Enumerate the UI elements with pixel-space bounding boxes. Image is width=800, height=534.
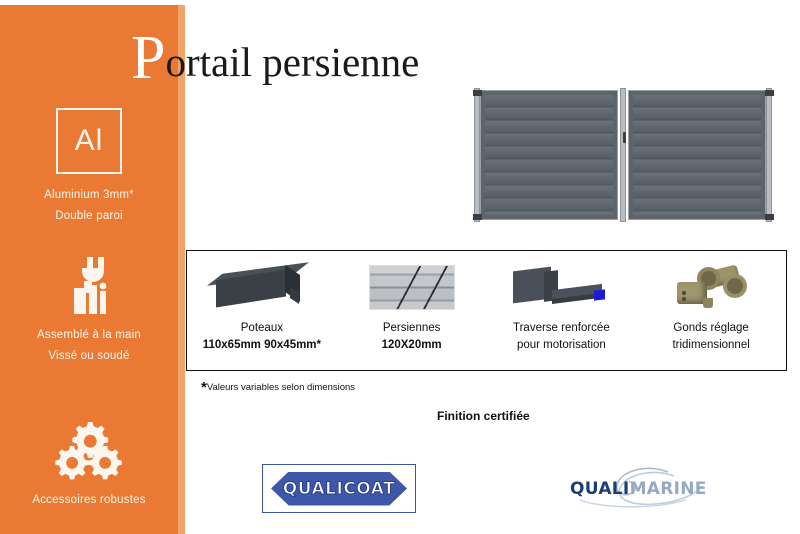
gate-cap-tr bbox=[765, 90, 774, 96]
finition-certifiee-label: Finition certifiée bbox=[437, 409, 530, 423]
product-sheet-page: Al Aluminium 3mm* Double paroi bbox=[0, 0, 800, 534]
page-title-capital: P bbox=[131, 24, 165, 92]
product-caption-poteaux: Poteaux bbox=[241, 322, 283, 334]
gate-cap-bl bbox=[473, 214, 482, 220]
qualimarine-logo: QUALIMARINE bbox=[556, 466, 718, 510]
gate-post-left bbox=[474, 88, 480, 222]
sidebar-item-accessoires: Accessoires robustes bbox=[0, 418, 178, 511]
gate-cap-tl bbox=[473, 90, 482, 96]
gate-slats-left bbox=[485, 95, 613, 215]
qualicoat-logo: QUALICOAT bbox=[262, 464, 416, 513]
product-caption-gonds: Gonds réglage bbox=[673, 322, 748, 334]
page-title: Portail persienne bbox=[131, 27, 419, 89]
qualimarine-text-part1: QUALI bbox=[570, 479, 630, 499]
product-sub-poteaux: 110x65mm 90x45mm* bbox=[203, 337, 321, 354]
product-cell-traverse: Traverse renforcée pour motorisation bbox=[487, 251, 637, 370]
gate-cap-br bbox=[765, 214, 774, 220]
gate-handle-icon bbox=[623, 132, 626, 143]
qualicoat-logo-text: QUALICOAT bbox=[283, 479, 395, 499]
gate-leaf-left bbox=[480, 90, 618, 220]
gond-hinge-icon bbox=[675, 261, 747, 313]
gate-post-right bbox=[766, 88, 772, 222]
product-cell-poteaux: Poteaux 110x65mm 90x45mm* bbox=[187, 251, 337, 370]
persiennes-slats-photo bbox=[369, 261, 455, 313]
gate-post-center bbox=[620, 88, 626, 222]
traverse-motor-icon bbox=[511, 261, 611, 313]
product-caption-persiennes: Persiennes bbox=[383, 322, 441, 334]
qualimarine-logo-text: QUALIMARINE bbox=[570, 479, 707, 499]
sidebar-item-assemblage: Assemblé à la main Vissé ou soudé bbox=[0, 253, 178, 367]
product-caption-traverse: Traverse renforcée bbox=[513, 322, 610, 334]
sidebar-label-aluminium-1: Aluminium 3mm* bbox=[0, 185, 178, 206]
product-features-box: Poteaux 110x65mm 90x45mm* Persiennes 120… bbox=[186, 250, 787, 371]
product-cell-gonds: Gonds réglage tridimensionnel bbox=[636, 251, 786, 370]
sidebar-label-assemblage-1: Assemblé à la main bbox=[0, 325, 178, 346]
product-sub-traverse: pour motorisation bbox=[513, 337, 610, 354]
product-sub-persiennes: 120X20mm bbox=[382, 337, 442, 354]
sidebar-label-aluminium-2: Double paroi bbox=[0, 206, 178, 227]
product-cell-persiennes: Persiennes 120X20mm bbox=[337, 251, 487, 370]
footnote: *Valeurs variables selon dimensions bbox=[201, 379, 355, 396]
sidebar-label-accessoires: Accessoires robustes bbox=[0, 490, 178, 511]
hand-wrench-icon bbox=[0, 253, 178, 315]
gate-leaf-right bbox=[628, 90, 766, 220]
aluminium-al-box-icon: Al bbox=[56, 108, 122, 174]
sidebar-label-assemblage-2: Vissé ou soudé bbox=[0, 346, 178, 367]
sidebar-item-aluminium: Al Aluminium 3mm* Double paroi bbox=[0, 108, 178, 227]
page-title-rest: ortail persienne bbox=[165, 39, 419, 85]
footnote-text: Valeurs variables selon dimensions bbox=[207, 382, 355, 393]
poteau-profile-icon bbox=[216, 261, 308, 313]
gate-slats-right bbox=[633, 95, 761, 215]
portail-persienne-photo bbox=[472, 88, 774, 222]
qualimarine-text-part2: MARINE bbox=[630, 479, 707, 499]
al-badge-label: Al bbox=[75, 126, 104, 156]
product-sub-gonds: tridimensionnel bbox=[672, 337, 749, 354]
gears-icon bbox=[0, 418, 178, 480]
